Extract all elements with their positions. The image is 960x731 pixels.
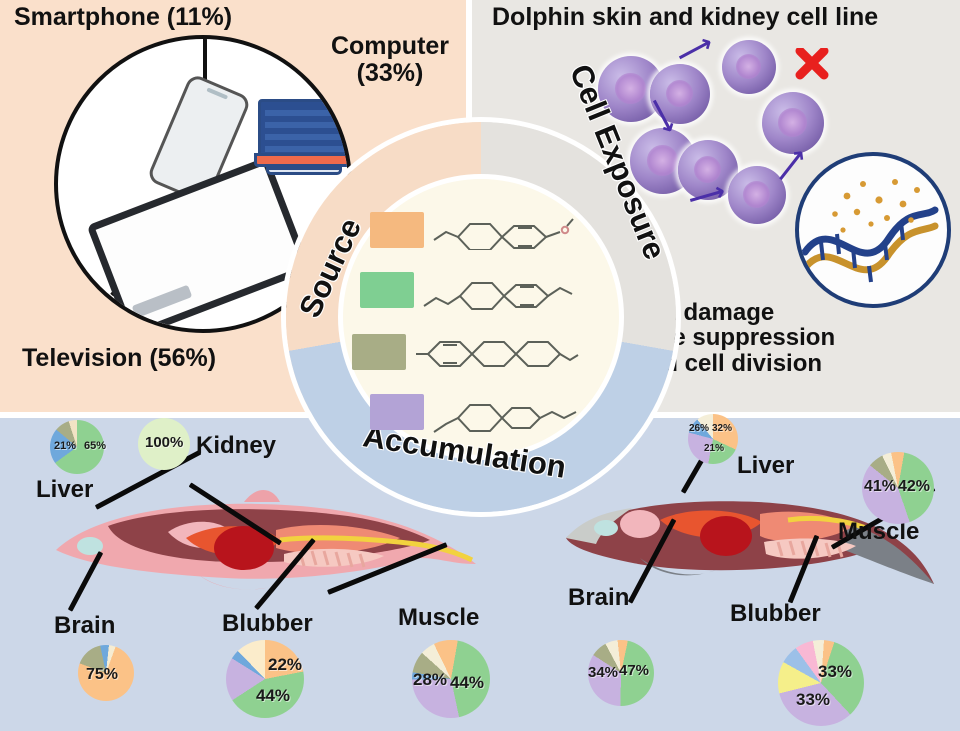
- pie-value-dolphin-muscle-purple: 28%: [413, 670, 447, 690]
- label-computer-line1: Computer: [300, 33, 480, 60]
- organ-label-dolphin-kidney: Kidney: [196, 432, 276, 460]
- label-computer-line2: (33%): [300, 60, 480, 87]
- chemical-row: [352, 332, 580, 372]
- pie-value-whale-muscle-green: 42%: [898, 478, 930, 496]
- pie-value-whale-brain-green: 47%: [619, 662, 649, 679]
- organ-label-whale-brain: Brain: [568, 584, 629, 612]
- red-x-icon: [795, 48, 829, 82]
- chemical-row: [360, 270, 574, 310]
- pie-value-dolphin-brain: 75%: [86, 666, 118, 684]
- pie-value-dolphin-liver-green: 65%: [84, 440, 106, 452]
- dna-helix-icon: [795, 152, 951, 308]
- pie-dolphin-blubber: [226, 640, 304, 718]
- pie-value-dolphin-blubber-orange: 22%: [268, 655, 302, 675]
- organ-label-whale-liver: Liver: [737, 452, 794, 480]
- pie-whale-liver: [688, 414, 738, 464]
- chemical-row: [370, 390, 578, 434]
- pie-whale-blubber: [778, 640, 864, 726]
- liquid-crystal-monomer-1-icon: [432, 210, 574, 250]
- organ-label-dolphin-blubber: Blubber: [222, 610, 313, 638]
- pie-value-whale-liver-green: 21%: [704, 443, 724, 454]
- liquid-crystal-monomer-3-icon: [414, 332, 580, 372]
- chemical-swatch-4: [370, 394, 424, 430]
- cell-cluster-icon: [722, 40, 776, 94]
- graphical-abstract: Smartphone (11%) Computer (33%) Televisi…: [0, 0, 960, 731]
- pie-value-whale-blubber-purple: 33%: [796, 690, 830, 710]
- center-cycle-diagram: Source Cell Exposure Accumulation: [286, 122, 676, 512]
- pie-value-whale-muscle-purple: 41%: [864, 478, 896, 496]
- chemical-swatch-2: [360, 272, 414, 308]
- pie-value-whale-blubber-green: 33%: [818, 662, 852, 682]
- label-cell-line-title: Dolphin skin and kidney cell line: [492, 4, 878, 31]
- liquid-crystal-monomer-2-icon: [422, 270, 574, 310]
- organ-label-dolphin-brain: Brain: [54, 612, 115, 640]
- organ-label-dolphin-liver: Liver: [36, 476, 93, 504]
- pie-value-dolphin-blubber-green: 44%: [256, 686, 290, 706]
- organ-label-dolphin-muscle: Muscle: [398, 604, 479, 632]
- pie-value-whale-brain-purple: 34%: [588, 664, 618, 681]
- label-television-share: Television (56%): [22, 345, 216, 372]
- organ-label-whale-blubber: Blubber: [730, 600, 821, 628]
- chemical-swatch-3: [352, 334, 406, 370]
- pie-value-dolphin-muscle-green: 44%: [450, 673, 484, 693]
- liquid-crystal-monomer-4-icon: [432, 390, 578, 434]
- pie-value-dolphin-liver-blue: 21%: [54, 440, 76, 452]
- label-computer-share: Computer (33%): [300, 33, 480, 86]
- television-icon: [87, 156, 312, 333]
- chemical-swatch-1: [370, 212, 424, 248]
- pie-value-whale-liver-purple: 26%: [689, 423, 709, 434]
- chemical-row: [370, 210, 574, 250]
- pie-value-whale-liver-orange: 32%: [712, 423, 732, 434]
- pie-value-dolphin-kidney: 100%: [145, 434, 183, 451]
- label-smartphone-share: Smartphone (11%): [14, 4, 232, 31]
